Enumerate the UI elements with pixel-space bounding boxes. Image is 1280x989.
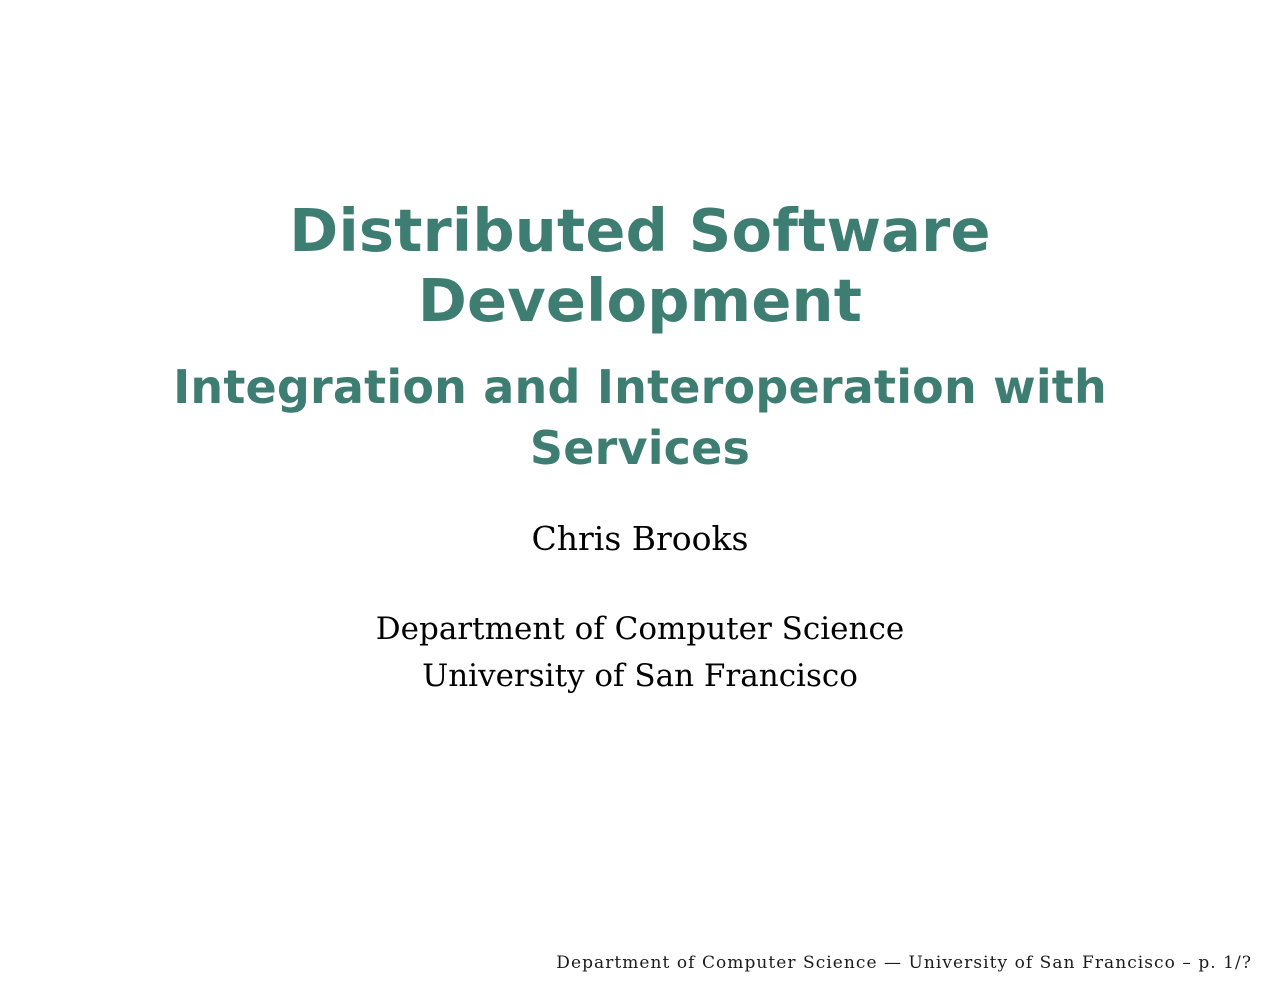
- author-name: Chris Brooks: [0, 518, 1280, 560]
- slide-title: Distributed Software Development: [0, 196, 1280, 336]
- affiliation-section: Department of Computer Science Universit…: [0, 606, 1280, 700]
- footer-text: Department of Computer Science — Univers…: [556, 953, 1252, 973]
- affiliation-department: Department of Computer Science: [0, 606, 1280, 653]
- title-line-2: Development: [0, 266, 1280, 336]
- presentation-title-slide: Distributed Software Development Integra…: [0, 0, 1280, 989]
- title-line-1: Distributed Software: [0, 196, 1280, 266]
- subtitle-line-2: Services: [0, 418, 1280, 479]
- slide-subtitle: Integration and Interoperation with Serv…: [0, 357, 1280, 479]
- subtitle-line-1: Integration and Interoperation with: [0, 357, 1280, 418]
- affiliation-university: University of San Francisco: [0, 653, 1280, 700]
- author-section: Chris Brooks: [0, 518, 1280, 560]
- slide-footer: Department of Computer Science — Univers…: [0, 953, 1280, 973]
